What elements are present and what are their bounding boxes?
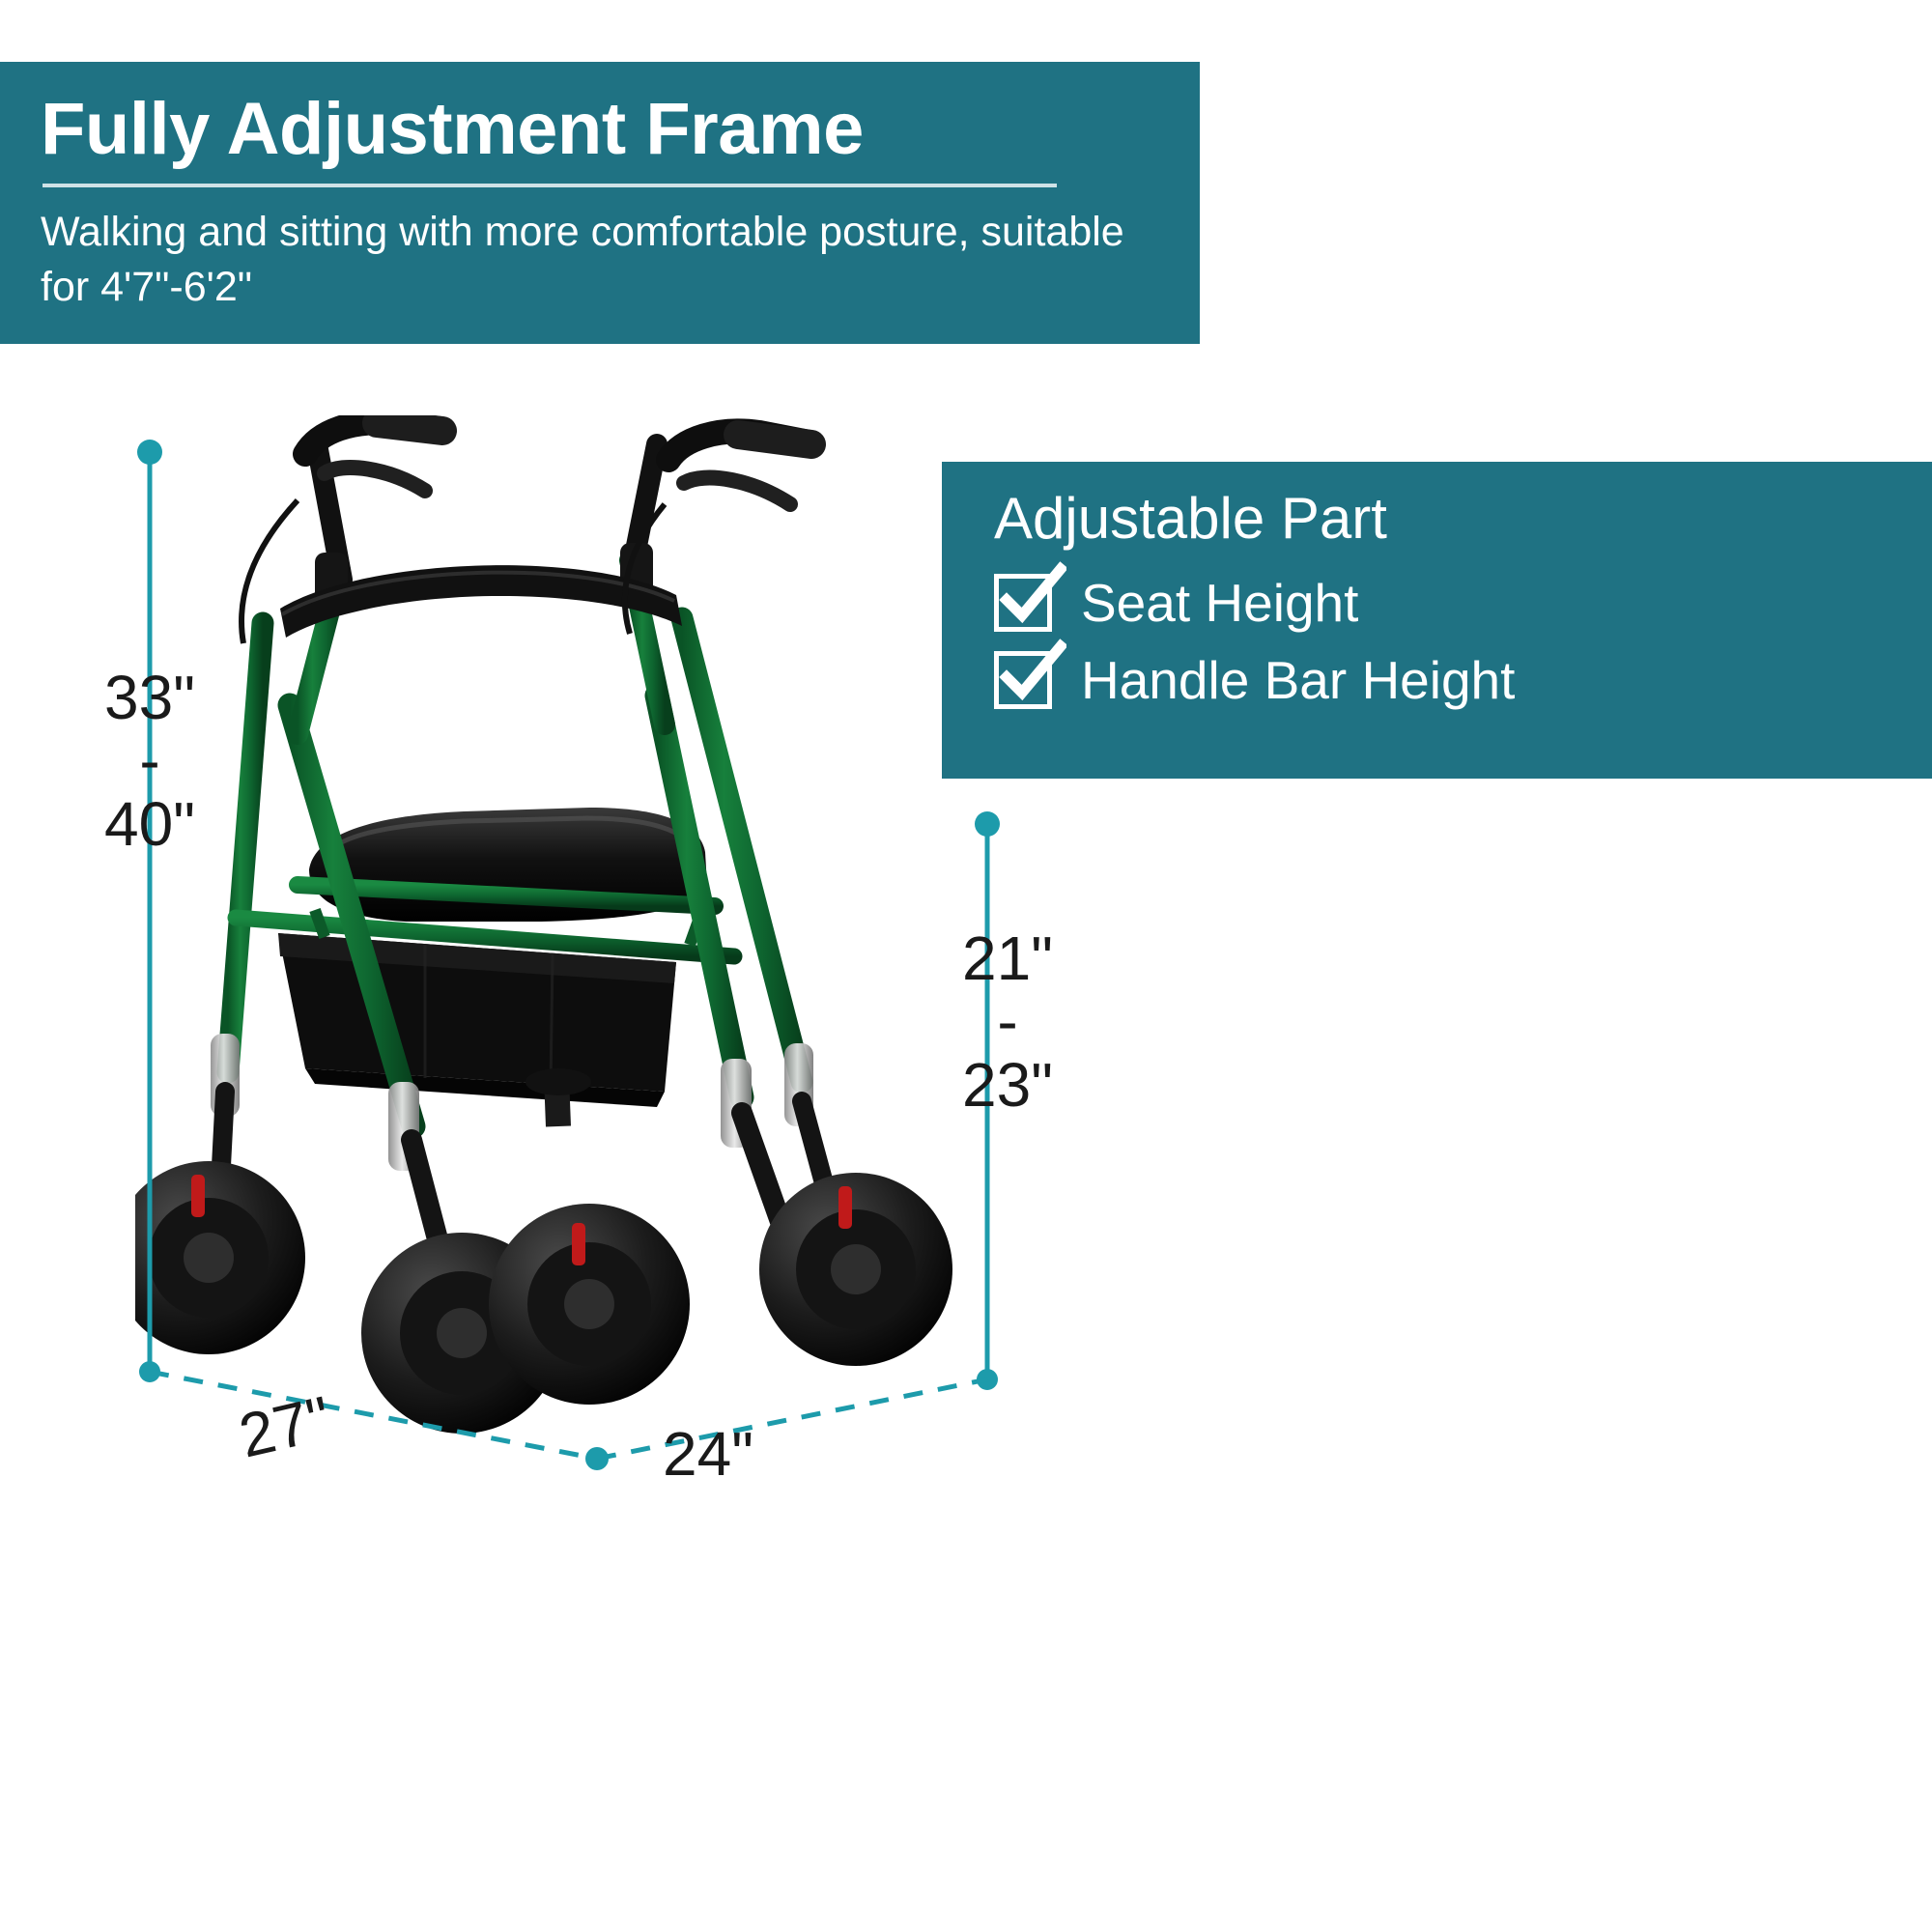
infographic-page: Fully Adjustment Frame Walking and sitti…: [0, 0, 1932, 1932]
overall-height-min: 33": [58, 667, 241, 729]
wheel-rear-left: [135, 1161, 305, 1354]
handle-grip-right: [668, 431, 811, 504]
seat-height-max: 23": [916, 1054, 1099, 1117]
wheel-rear-right: [759, 1173, 952, 1366]
adjustable-item-label: Handle Bar Height: [1081, 649, 1515, 711]
product-image-rollator-walker: [135, 415, 985, 1439]
adjustable-item-seat-height: Seat Height: [994, 572, 1932, 634]
header-subtitle: Walking and sitting with more comfortabl…: [41, 205, 1161, 315]
adjustable-item-label: Seat Height: [1081, 572, 1358, 634]
title-divider: [43, 184, 1057, 187]
seat-height-min: 21": [916, 927, 1099, 990]
overall-height-max: 40": [58, 793, 241, 856]
storage-basket: [278, 933, 676, 1107]
header-banner: Fully Adjustment Frame Walking and sitti…: [0, 62, 1200, 344]
adjustable-item-handle-bar-height: Handle Bar Height: [994, 649, 1932, 711]
measure-dot-front: [585, 1447, 609, 1470]
overall-height-dimension: 33" - 40": [58, 667, 241, 856]
overall-height-dash: -: [58, 729, 241, 792]
adjustable-part-title: Adjustable Part: [994, 487, 1932, 551]
width-dimension-label: 24": [663, 1418, 753, 1490]
seat-height-dash: -: [916, 990, 1099, 1053]
adjustable-part-panel: Adjustable Part Seat Height Handle Bar H…: [942, 462, 1932, 779]
page-title: Fully Adjustment Frame: [41, 91, 1200, 168]
checkbox-checked-icon: [994, 651, 1052, 709]
seat-height-dimension: 21" - 23": [916, 927, 1099, 1117]
checkbox-checked-icon: [994, 574, 1052, 632]
wheel-front-right: [489, 1204, 690, 1405]
